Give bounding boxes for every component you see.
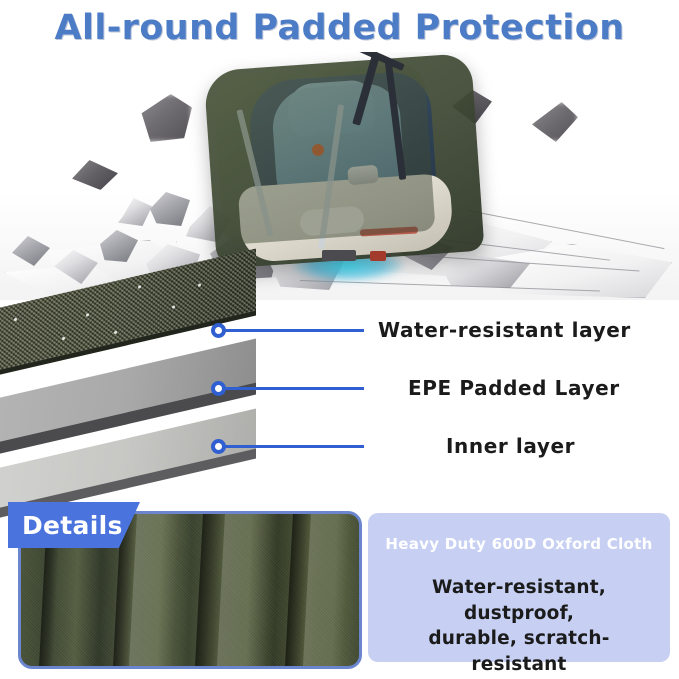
seat-base-detail	[322, 250, 356, 261]
callout-label-epe-padded: EPE Padded Layer	[408, 376, 620, 400]
page-title: All-round Padded Protection	[0, 8, 679, 48]
callout-label-water-resistant: Water-resistant layer	[378, 318, 631, 342]
fabric-info-heading: Heavy Duty 600D Oxford Cloth	[382, 535, 656, 553]
car-seat-with-travel-bag	[196, 52, 496, 282]
debris-fragment	[72, 160, 118, 190]
exploded-layer-stack	[0, 276, 400, 492]
callout-line-epe-padded	[224, 387, 364, 390]
callout-label-inner: Inner layer	[446, 434, 575, 458]
infographic-page: All-round Padded Protection	[0, 0, 679, 679]
debris-fragment	[136, 94, 192, 142]
details-badge: Details	[8, 502, 140, 548]
callout-line-inner	[224, 445, 364, 448]
fabric-info-body: Water-resistant, dustproof, durable, scr…	[382, 575, 656, 677]
debris-fragment	[530, 102, 578, 142]
callout-line-water-resistant	[224, 329, 364, 332]
fabric-info-line-2: durable, scratch-resistant	[382, 626, 656, 677]
fabric-info-box: Heavy Duty 600D Oxford Cloth Water-resis…	[368, 513, 670, 662]
hero-scene	[0, 52, 679, 300]
details-badge-label: Details	[22, 511, 123, 540]
seat-base-detail	[370, 251, 386, 261]
fabric-info-line-1: Water-resistant, dustproof,	[382, 575, 656, 626]
